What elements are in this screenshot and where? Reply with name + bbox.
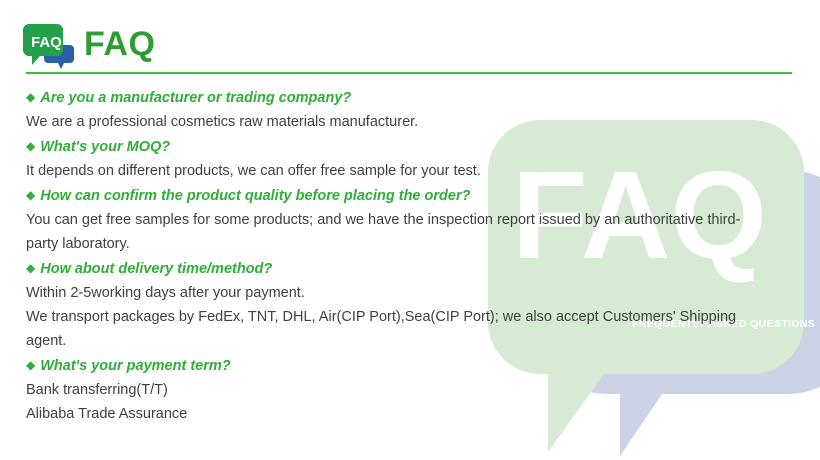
diamond-bullet-icon: ◆ bbox=[26, 256, 35, 280]
faq-question-text: Are you a manufacturer or trading compan… bbox=[40, 90, 351, 106]
diamond-bullet-icon: ◆ bbox=[26, 85, 35, 109]
logo-faq-text: FAQ bbox=[31, 34, 62, 51]
faq-answer: Bank transferring(T/T) bbox=[26, 378, 766, 402]
faq-question: ◆How can confirm the product quality bef… bbox=[26, 183, 796, 208]
faq-answer: We transport packages by FedEx, TNT, DHL… bbox=[26, 305, 766, 353]
faq-logo-icon: FAQ bbox=[22, 19, 76, 73]
faq-question: ◆How about delivery time/method? bbox=[26, 256, 796, 281]
faq-question-text: What's your MOQ? bbox=[40, 139, 170, 155]
faq-item: ◆How can confirm the product quality bef… bbox=[26, 183, 796, 256]
faq-question-text: How about delivery time/method? bbox=[40, 261, 272, 277]
faq-item: ◆How about delivery time/method? Within … bbox=[26, 256, 796, 353]
faq-question-text: What's your payment term? bbox=[40, 358, 230, 374]
faq-answer: We are a professional cosmetics raw mate… bbox=[26, 110, 766, 134]
faq-item: ◆What's your payment term? Bank transfer… bbox=[26, 353, 796, 426]
faq-question: ◆What's your MOQ? bbox=[26, 134, 796, 159]
faq-answer: It depends on different products, we can… bbox=[26, 159, 766, 183]
diamond-bullet-icon: ◆ bbox=[26, 134, 35, 158]
faq-question-text: How can confirm the product quality befo… bbox=[40, 188, 470, 204]
faq-item: ◆Are you a manufacturer or trading compa… bbox=[26, 85, 796, 134]
diamond-bullet-icon: ◆ bbox=[26, 183, 35, 207]
faq-list: ◆Are you a manufacturer or trading compa… bbox=[26, 85, 796, 426]
faq-answer: Alibaba Trade Assurance bbox=[26, 402, 766, 426]
page-title: FAQ bbox=[84, 22, 155, 66]
diamond-bullet-icon: ◆ bbox=[26, 353, 35, 377]
faq-question: ◆What's your payment term? bbox=[26, 353, 796, 378]
faq-item: ◆What's your MOQ? It depends on differen… bbox=[26, 134, 796, 183]
faq-answer: Within 2-5working days after your paymen… bbox=[26, 281, 766, 305]
faq-page: FAQ FREQUENTLY ASKED QUESTIONS FAQ FAQ ◆… bbox=[0, 0, 820, 460]
faq-question: ◆Are you a manufacturer or trading compa… bbox=[26, 85, 796, 110]
faq-answer: You can get free samples for some produc… bbox=[26, 208, 766, 256]
page-header: FAQ FAQ bbox=[0, 0, 820, 78]
header-divider bbox=[26, 72, 792, 74]
